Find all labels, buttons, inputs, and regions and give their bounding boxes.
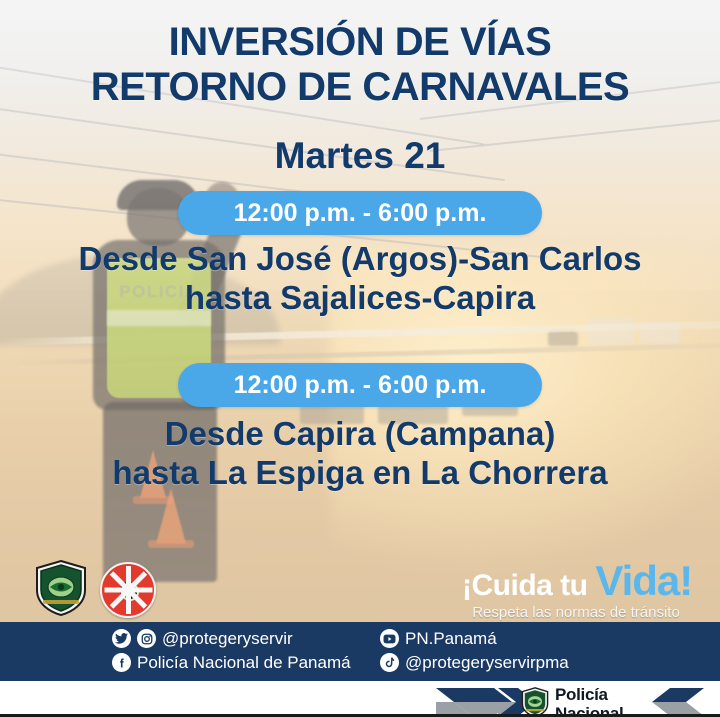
facebook-icon[interactable] — [112, 653, 131, 672]
date-label: Martes 21 — [0, 136, 720, 177]
police-logo-text: Policía Nacional Proteger y Servir — [555, 686, 649, 717]
social-row-twitter-instagram[interactable]: @protegeryservir — [112, 627, 293, 650]
route-1-line-2: hasta Sajalices-Capira — [0, 279, 720, 318]
title-line-2: RETORNO DE CARNAVALES — [0, 65, 720, 110]
police-shield-icon — [521, 687, 549, 717]
emblem-group — [34, 560, 164, 616]
poster-content: INVERSIÓN DE VÍAS RETORNO DE CARNAVALES … — [0, 0, 720, 717]
tiktok-icon[interactable] — [380, 653, 399, 672]
chevron-left-icon — [648, 688, 704, 716]
slogan-main: ¡Cuida tu Vida! — [462, 560, 690, 602]
title-line-1: INVERSIÓN DE VÍAS — [169, 20, 552, 64]
poster: POLICIA INVERSIÓN DE VÍAS RETORNO DE CAR… — [0, 0, 720, 717]
route-block-2: Desde Capira (Campana) hasta La Espiga e… — [0, 415, 720, 493]
social-row-tiktok[interactable]: @protegeryservirpma — [380, 651, 569, 674]
facebook-handle[interactable]: Policía Nacional de Panamá — [137, 651, 351, 674]
route-block-1: Desde San José (Argos)-San Carlos hasta … — [0, 240, 720, 318]
time-badge-2: 12:00 p.m. - 6:00 p.m. — [178, 363, 542, 407]
youtube-icon[interactable] — [380, 629, 399, 648]
instagram-icon[interactable] — [137, 629, 156, 648]
social-footer-band: @protegeryservir Policía Nacional de Pan… — [0, 622, 720, 677]
social-row-youtube[interactable]: PN.Panamá — [380, 627, 497, 650]
bottom-logo-bar: Policía Nacional Proteger y Servir — [0, 681, 720, 717]
twitter-instagram-handle[interactable]: @protegeryservir — [162, 627, 293, 650]
slogan-block: ¡Cuida tu Vida! Respeta las normas de tr… — [462, 560, 690, 618]
slogan-subtitle: Respeta las normas de tránsito — [462, 605, 690, 622]
social-links: @protegeryservir Policía Nacional de Pan… — [112, 626, 712, 674]
transit-unit-patch — [100, 562, 156, 618]
route-2-line-2: hasta La Espiga en La Chorrera — [0, 454, 720, 493]
social-row-facebook[interactable]: Policía Nacional de Panamá — [112, 651, 351, 674]
time-badge-1: 12:00 p.m. - 6:00 p.m. — [178, 191, 542, 235]
page-title: INVERSIÓN DE VÍAS RETORNO DE CARNAVALES — [0, 20, 720, 110]
police-shield-emblem — [34, 560, 88, 616]
police-logo: Policía Nacional Proteger y Servir — [521, 686, 649, 717]
org-name: Policía Nacional — [555, 685, 623, 717]
route-1-line-1: Desde San José (Argos)-San Carlos — [0, 240, 720, 279]
tiktok-handle[interactable]: @protegeryservirpma — [405, 651, 569, 674]
route-2-line-1: Desde Capira (Campana) — [0, 415, 720, 454]
youtube-handle[interactable]: PN.Panamá — [405, 627, 497, 650]
twitter-icon[interactable] — [112, 629, 131, 648]
slogan-highlight: Vida! — [595, 557, 692, 604]
slogan-prefix: ¡Cuida tu — [462, 569, 595, 602]
